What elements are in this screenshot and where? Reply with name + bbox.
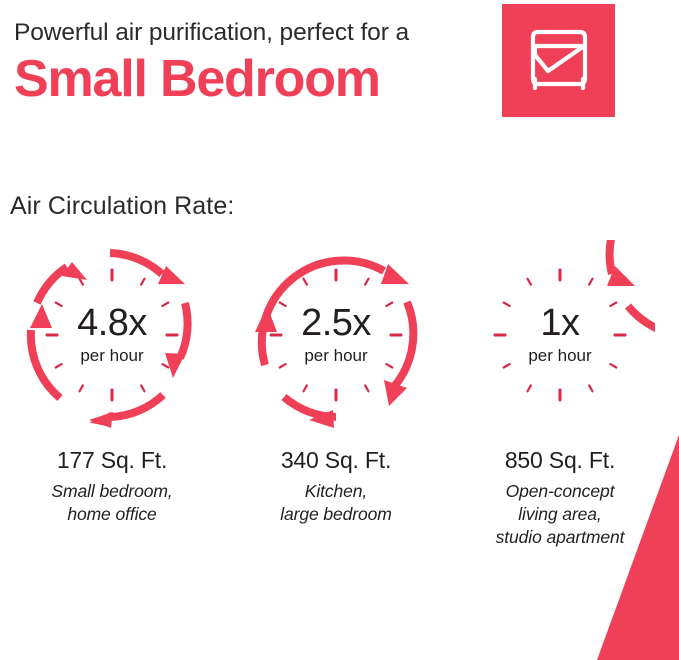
- rate-column-1: 4.8x per hour 177 Sq. Ft. Small bedroom,…: [0, 240, 224, 549]
- area-description-line: Small bedroom,: [51, 480, 172, 503]
- area-description-line: studio apartment: [496, 526, 625, 549]
- area-description-line: home office: [51, 503, 172, 526]
- area-description-line: living area,: [496, 503, 625, 526]
- rate-columns: 4.8x per hour 177 Sq. Ft. Small bedroom,…: [0, 240, 679, 549]
- area-description: Open-concept living area, studio apartme…: [496, 480, 625, 549]
- area-description-line: large bedroom: [280, 503, 392, 526]
- header: Powerful air purification, perfect for a…: [14, 18, 494, 108]
- dial-4-8x: 4.8x per hour: [17, 240, 207, 430]
- dial-1x: 1x per hour: [465, 240, 655, 430]
- page-title: Small Bedroom: [14, 50, 494, 108]
- area-description: Kitchen, large bedroom: [280, 480, 392, 526]
- area-description-line: Kitchen,: [280, 480, 392, 503]
- bed-icon-badge: [502, 4, 615, 117]
- dial-2-5x: 2.5x per hour: [241, 240, 431, 430]
- area-label: 177 Sq. Ft.: [57, 446, 167, 474]
- area-label: 340 Sq. Ft.: [281, 446, 391, 474]
- rate-column-2: 2.5x per hour 340 Sq. Ft. Kitchen, large…: [224, 240, 448, 549]
- area-label: 850 Sq. Ft.: [505, 446, 615, 474]
- infographic-page: Powerful air purification, perfect for a…: [0, 0, 679, 660]
- area-description-line: Open-concept: [496, 480, 625, 503]
- rate-column-3: 1x per hour 850 Sq. Ft. Open-concept liv…: [448, 240, 672, 549]
- area-description: Small bedroom, home office: [51, 480, 172, 526]
- headline-subtitle: Powerful air purification, perfect for a: [14, 18, 494, 48]
- bed-icon: [524, 4, 594, 94]
- section-title: Air Circulation Rate:: [10, 191, 234, 221]
